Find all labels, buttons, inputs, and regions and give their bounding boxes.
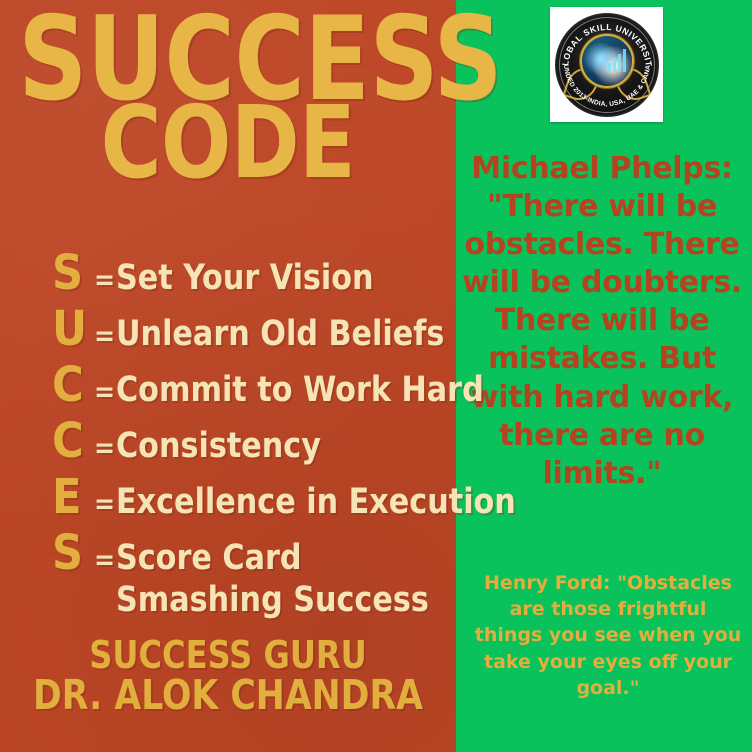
acronym-letter: S bbox=[52, 249, 94, 297]
quote-michael-phelps: Michael Phelps: "There will be obstacles… bbox=[452, 150, 752, 493]
poster-canvas: SUCCESS CODE S = Set Your Vision U = Unl… bbox=[0, 0, 752, 752]
list-item: U = Unlearn Old Beliefs bbox=[52, 305, 482, 361]
equals-sign: = bbox=[94, 266, 116, 294]
equals-sign: = bbox=[94, 546, 116, 574]
equals-sign: = bbox=[94, 378, 116, 406]
equals-sign: = bbox=[94, 434, 116, 462]
acronym-letter: U bbox=[52, 305, 94, 353]
quote-henry-ford: Henry Ford: "Obstacles are those frightf… bbox=[474, 570, 742, 701]
acronym-letter: C bbox=[52, 417, 94, 465]
logo-badge-circle: GLOBAL SKILL UNIVERSITY FOUNDED 2013-IND… bbox=[555, 13, 659, 117]
acronym-list: S = Set Your Vision U = Unlearn Old Beli… bbox=[52, 249, 482, 621]
list-item: C = Commit to Work Hard bbox=[52, 361, 482, 417]
signature-line-1: SUCCESS GURU bbox=[14, 636, 443, 675]
acronym-meaning: Excellence in Execution bbox=[116, 484, 516, 520]
signature-line-2: DR. ALOK CHANDRA bbox=[14, 675, 443, 717]
list-item: S = Set Your Vision bbox=[52, 249, 482, 305]
acronym-letter: S bbox=[52, 529, 94, 577]
author-signature: SUCCESS GURU DR. ALOK CHANDRA bbox=[0, 636, 456, 717]
page-title: SUCCESS CODE bbox=[0, 14, 456, 183]
equals-sign: = bbox=[94, 322, 116, 350]
university-logo: GLOBAL SKILL UNIVERSITY FOUNDED 2013-IND… bbox=[550, 7, 663, 122]
list-item: S = Score Card bbox=[52, 529, 482, 585]
acronym-letter: C bbox=[52, 361, 94, 409]
list-item: C = Consistency bbox=[52, 417, 482, 473]
logo-arc-bottom-text: FOUNDED 2013-INDIA, USA, UAE & CANADA bbox=[555, 13, 659, 117]
acronym-meaning: Unlearn Old Beliefs bbox=[116, 316, 467, 352]
acronym-meaning: Score Card bbox=[116, 540, 467, 576]
logo-arc-bottom-label: FOUNDED 2013-INDIA, USA, UAE & CANADA bbox=[555, 13, 652, 108]
acronym-meaning: Consistency bbox=[116, 428, 467, 464]
acronym-letter: E bbox=[52, 473, 94, 521]
acronym-extra-line: Smashing Success bbox=[116, 579, 467, 621]
svg-text:FOUNDED 2013-INDIA, USA, UAE &: FOUNDED 2013-INDIA, USA, UAE & CANADA bbox=[555, 13, 652, 108]
list-item: E = Excellence in Execution bbox=[52, 473, 482, 529]
equals-sign: = bbox=[94, 490, 116, 518]
acronym-meaning: Commit to Work Hard bbox=[116, 372, 484, 408]
acronym-meaning: Set Your Vision bbox=[116, 260, 467, 296]
title-line-2: CODE bbox=[18, 103, 438, 183]
